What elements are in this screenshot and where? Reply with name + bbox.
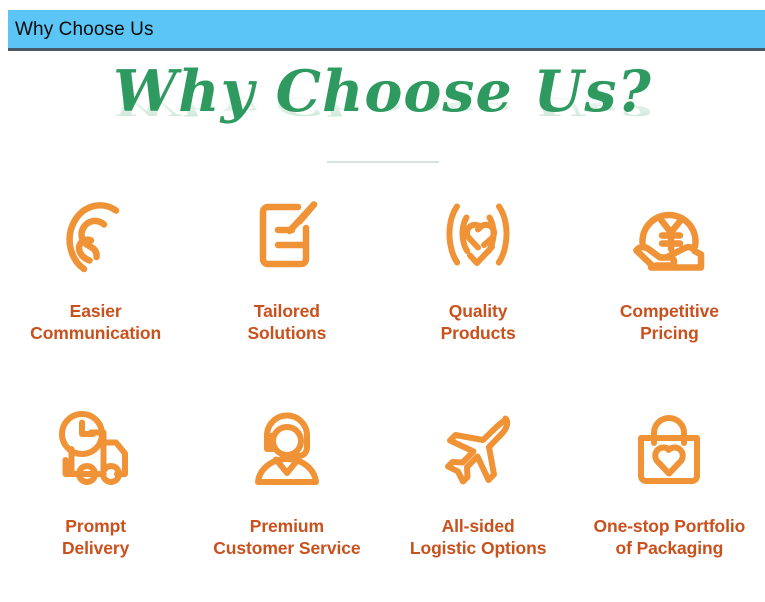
- hero-divider: [327, 161, 439, 163]
- feature-item-prompt-delivery[interactable]: Prompt Delivery: [0, 387, 191, 602]
- feature-label: One-stop Portfolio of Packaging: [589, 515, 749, 559]
- page-title: Why Choose Us?: [0, 56, 765, 128]
- feature-item-easier-communication[interactable]: Easier Communication: [0, 172, 191, 387]
- feature-item-all-sided-logistic-options[interactable]: All-sided Logistic Options: [383, 387, 574, 602]
- shopping-bag-heart-icon: [621, 403, 717, 499]
- page-content: Why Choose Us? Why Choose Us? Easier Com…: [0, 54, 765, 599]
- feature-label: Competitive Pricing: [616, 300, 723, 344]
- window-header-bar: Why Choose Us: [8, 10, 765, 51]
- feature-grid: Easier Communication Tailored Solutions: [0, 172, 765, 602]
- headset-agent-icon: [239, 403, 335, 499]
- feature-label: Premium Customer Service: [209, 515, 364, 559]
- window-title: Why Choose Us: [8, 20, 154, 39]
- delivery-truck-clock-icon: [48, 403, 144, 499]
- feature-item-competitive-pricing[interactable]: Competitive Pricing: [574, 172, 765, 387]
- feature-item-premium-customer-service[interactable]: Premium Customer Service: [191, 387, 382, 602]
- document-pencil-icon: [239, 188, 335, 284]
- heart-check-signal-icon: [430, 188, 526, 284]
- airplane-icon: [430, 403, 526, 499]
- feature-item-one-stop-portfolio-of-packaging[interactable]: One-stop Portfolio of Packaging: [574, 387, 765, 602]
- feature-label: All-sided Logistic Options: [406, 515, 550, 559]
- hero-section: Why Choose Us? Why Choose Us?: [0, 54, 765, 166]
- feature-label: Quality Products: [437, 300, 520, 344]
- feature-item-quality-products[interactable]: Quality Products: [383, 172, 574, 387]
- feature-label: Easier Communication: [26, 300, 165, 344]
- ear-listening-icon: [48, 188, 144, 284]
- hand-holding-yen-coin-icon: [621, 188, 717, 284]
- feature-item-tailored-solutions[interactable]: Tailored Solutions: [191, 172, 382, 387]
- feature-label: Prompt Delivery: [58, 515, 133, 559]
- feature-label: Tailored Solutions: [243, 300, 330, 344]
